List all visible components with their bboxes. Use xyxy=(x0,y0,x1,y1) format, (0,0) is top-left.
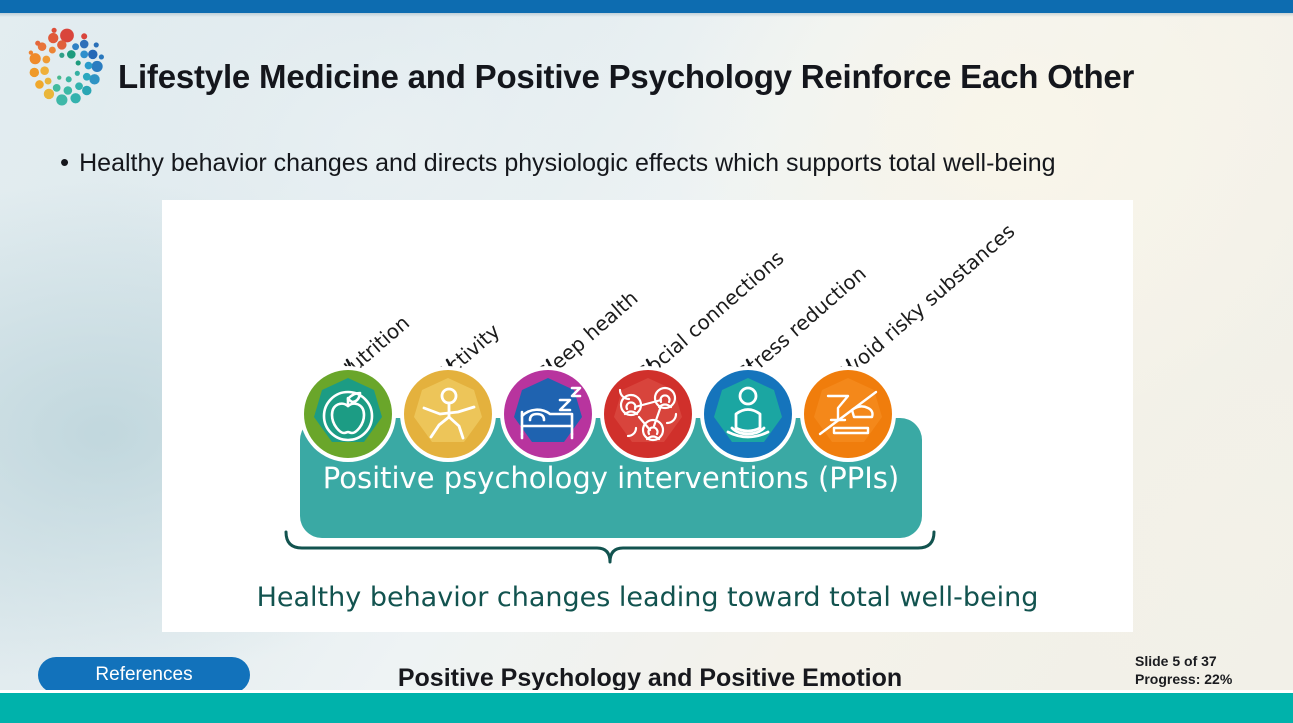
slide-canvas: Lifestyle Medicine and Positive Psycholo… xyxy=(0,0,1293,723)
diagram-caption: Healthy behavior changes leading toward … xyxy=(162,582,1133,613)
progress-text: Progress: 22% xyxy=(1135,670,1285,688)
bullet-text: Healthy behavior changes and directs phy… xyxy=(79,147,1055,179)
page-title: Lifestyle Medicine and Positive Psycholo… xyxy=(118,58,1278,96)
bullet-marker-icon: • xyxy=(60,147,69,177)
bottom-accent-bar xyxy=(0,693,1293,723)
pillar-icon-avoid-risky-substances xyxy=(804,370,892,458)
slide-counter: Slide 5 of 37 xyxy=(1135,652,1285,670)
lifestyle-pillars-diagram: Nutrition Activity Sleep health Social c… xyxy=(162,200,1133,632)
pillar-icon-activity xyxy=(404,370,492,458)
bullet-item: • Healthy behavior changes and directs p… xyxy=(60,147,1260,179)
brace-under-band xyxy=(280,530,940,578)
top-accent-bar xyxy=(0,0,1293,13)
footer-section-title: Positive Psychology and Positive Emotion xyxy=(330,664,970,693)
pillar-icon-nutrition xyxy=(304,370,392,458)
pillar-label-avoid-risky-substances: Avoid risky substances xyxy=(832,219,1019,386)
references-button-label: References xyxy=(95,664,192,686)
diagram-card: Nutrition Activity Sleep health Social c… xyxy=(162,200,1133,632)
pillar-icon-social-connections xyxy=(604,370,692,458)
pillar-icon-stress-reduction xyxy=(704,370,792,458)
lifestyle-medicine-dots-logo xyxy=(24,26,110,112)
slide-progress-info: Slide 5 of 37 Progress: 22% xyxy=(1135,652,1285,688)
references-button[interactable]: References xyxy=(38,657,250,693)
top-bar-shadow xyxy=(0,13,1293,17)
pillar-icon-sleep-health xyxy=(504,370,592,458)
